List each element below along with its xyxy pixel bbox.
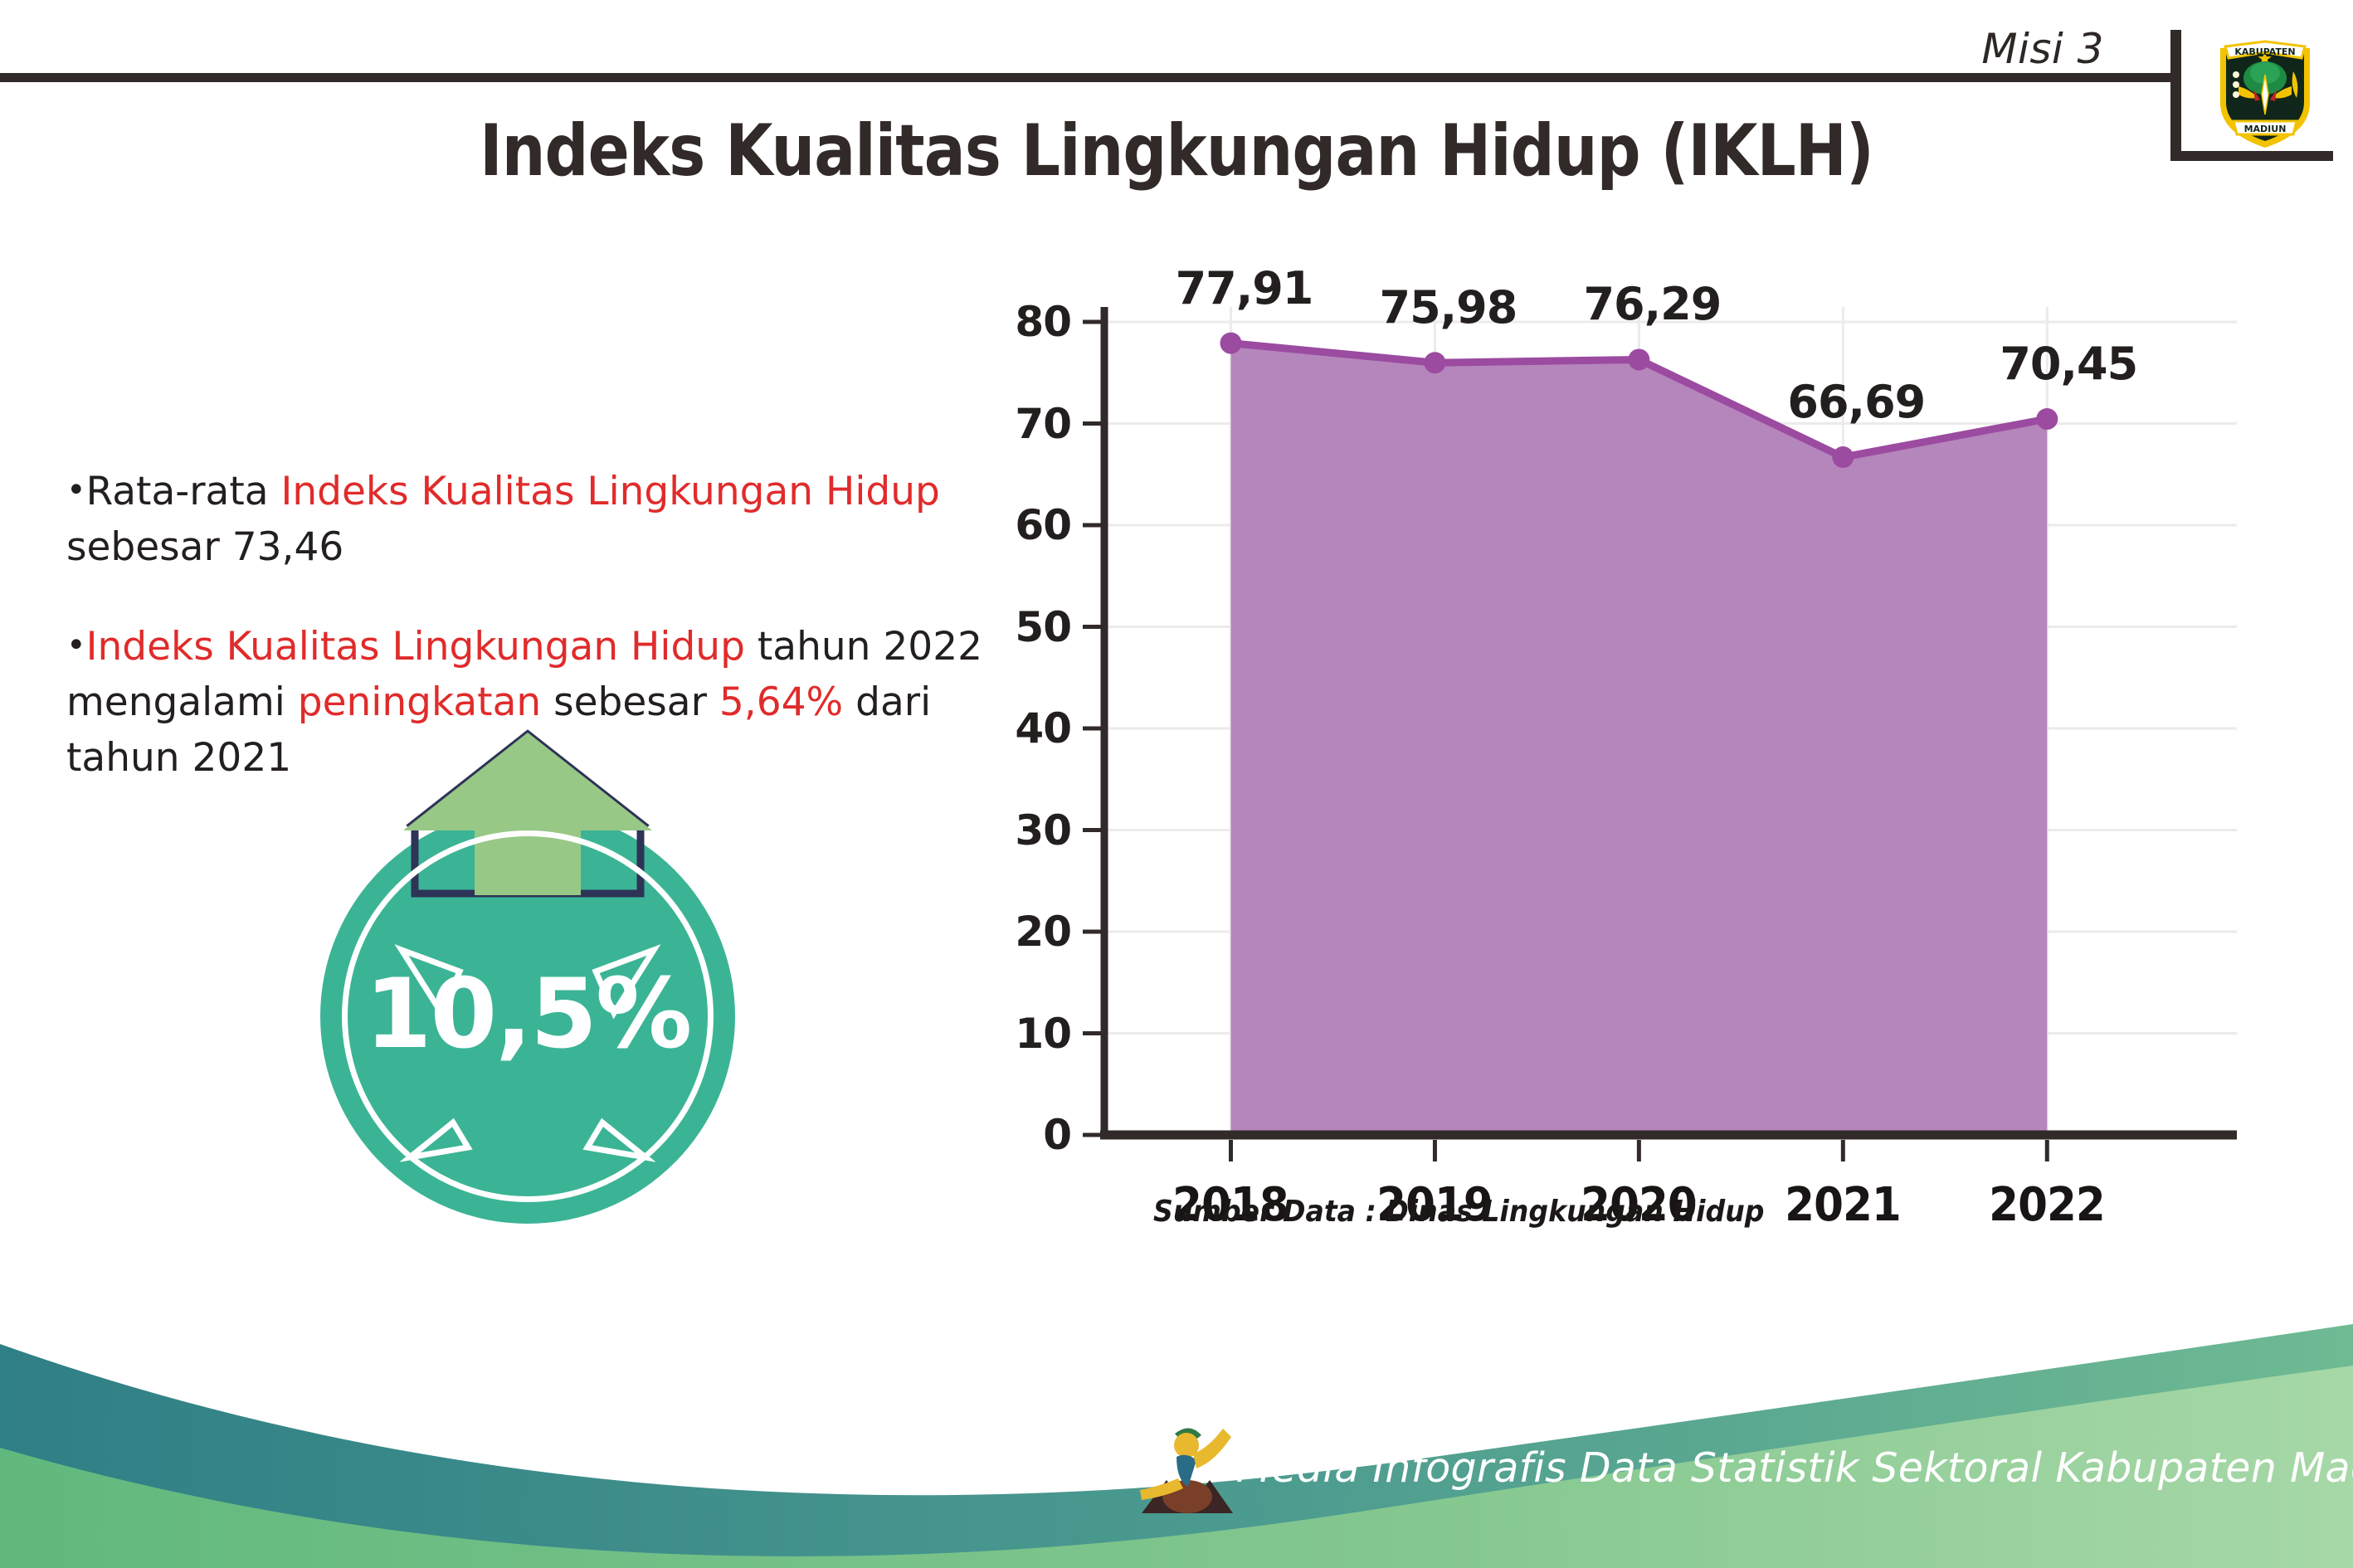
iklh-area-chart: 01020304050607080 20182019202020212022 7… (979, 299, 2240, 1161)
chart-area-fill (1230, 343, 2047, 1135)
y-tick-label: 10 (972, 1010, 1071, 1058)
crest-bottom-label: MADIUN (2244, 124, 2287, 134)
y-tick-label: 30 (972, 806, 1071, 855)
header-rule (0, 73, 2178, 82)
footer-text: Media Infografis Data Statistik Sektoral… (1236, 1444, 2353, 1492)
data-label: 76,29 (1552, 278, 1751, 330)
chart-source-note: Sumber Data : Dinas Lingkungan Hidup (1153, 1195, 1764, 1229)
chart-marker (1220, 333, 1241, 354)
bullet-marker: • (66, 471, 86, 509)
bullet-segment: peningkatan (298, 679, 541, 725)
increase-badge: 10,5% (320, 809, 735, 1224)
bullet-segment: Rata-rata (86, 469, 281, 514)
page-title: Indeks Kualitas Lingkungan Hidup (IKLH) (165, 110, 2189, 192)
y-tick-label: 0 (972, 1111, 1071, 1159)
y-tick-label: 20 (972, 908, 1071, 956)
data-label: 75,98 (1348, 281, 1547, 334)
x-tick-label: 2022 (1956, 1178, 2139, 1232)
data-label: 66,69 (1756, 376, 1956, 428)
list-item: •Rata-rata Indeks Kualitas Lingkungan Hi… (66, 465, 996, 575)
chart-y-ticks (1083, 322, 1101, 1135)
chart-marker (1628, 348, 1649, 370)
bullet-segment: Indeks Kualitas Lingkungan Hidup (281, 469, 940, 514)
kabupaten-madiun-crest-icon: KABUPATEN MADIUN (2214, 35, 2316, 151)
chart-canvas (979, 299, 2240, 1161)
bullet-text-0: Rata-rata Indeks Kualitas Lingkungan Hid… (66, 469, 940, 570)
chart-marker (2036, 408, 2058, 430)
dancer-logo-icon (1138, 1410, 1236, 1527)
data-label: 77,91 (1144, 262, 1343, 314)
badge-value: 10,5% (320, 958, 735, 1070)
bullet-segment: sebesar (541, 679, 719, 725)
chart-marker (1832, 446, 1854, 468)
bullet-segment: 5,64% (719, 679, 843, 725)
infographic-slide: Misi 3 KABUPATEN MADIUN Indeks Kualitas … (0, 0, 2353, 1568)
bullet-segment: sebesar 73,46 (66, 524, 343, 570)
bullet-marker: • (66, 626, 86, 665)
crest-top-label: KABUPATEN (2234, 46, 2295, 57)
y-tick-label: 40 (972, 704, 1071, 752)
y-tick-label: 60 (972, 501, 1071, 549)
y-tick-label: 50 (972, 603, 1071, 651)
footer: Media Infografis Data Statistik Sektoral… (0, 1294, 2353, 1568)
y-tick-label: 70 (972, 400, 1071, 448)
misi-label: Misi 3 (1981, 25, 2104, 73)
chart-marker (1424, 352, 1445, 373)
x-tick-label: 2021 (1751, 1178, 1935, 1232)
bullet-segment: Indeks Kualitas Lingkungan Hidup (86, 624, 745, 670)
y-tick-label: 80 (972, 298, 1071, 346)
data-label: 70,45 (1969, 338, 2168, 390)
chart-x-ticks (1230, 1140, 2047, 1161)
